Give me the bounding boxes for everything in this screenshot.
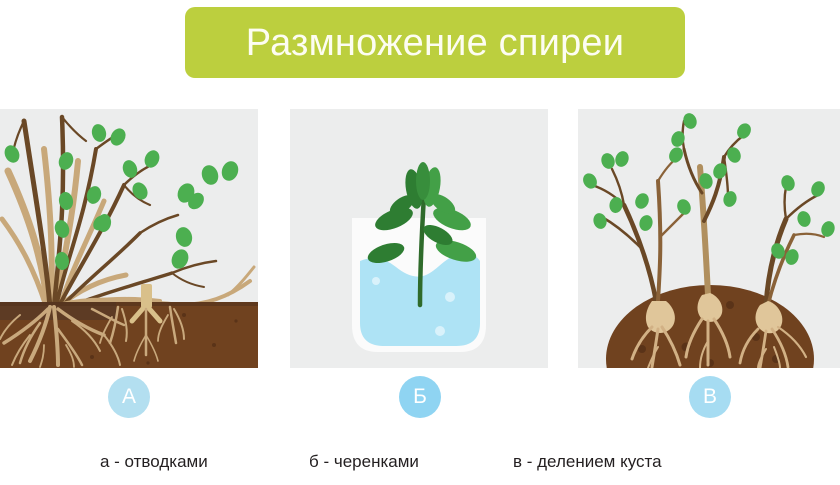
cutting-in-water-illustration [290, 109, 548, 368]
panel-caption-b: б - черенками [309, 452, 419, 472]
illustration-panel-a [0, 109, 258, 368]
panel-badge-a: А [108, 376, 150, 418]
illustration-panel-c [578, 109, 840, 368]
shrub-layering-illustration [0, 109, 258, 368]
panel-badge-c-label: В [703, 385, 717, 409]
bush-division-illustration [578, 109, 840, 368]
panel-badge-a-label: А [122, 385, 136, 409]
panel-caption-a: а - отводками [100, 452, 208, 472]
panel-badge-c: В [689, 376, 731, 418]
title-banner: Размножение спиреи [185, 7, 685, 78]
page-title: Размножение спиреи [246, 24, 624, 62]
panel-caption-c: в - делением куста [513, 452, 662, 472]
panel-badge-b: Б [399, 376, 441, 418]
soil-surface-line [0, 302, 258, 306]
panel-badge-b-label: Б [413, 385, 427, 409]
illustration-panel-b [290, 109, 548, 368]
